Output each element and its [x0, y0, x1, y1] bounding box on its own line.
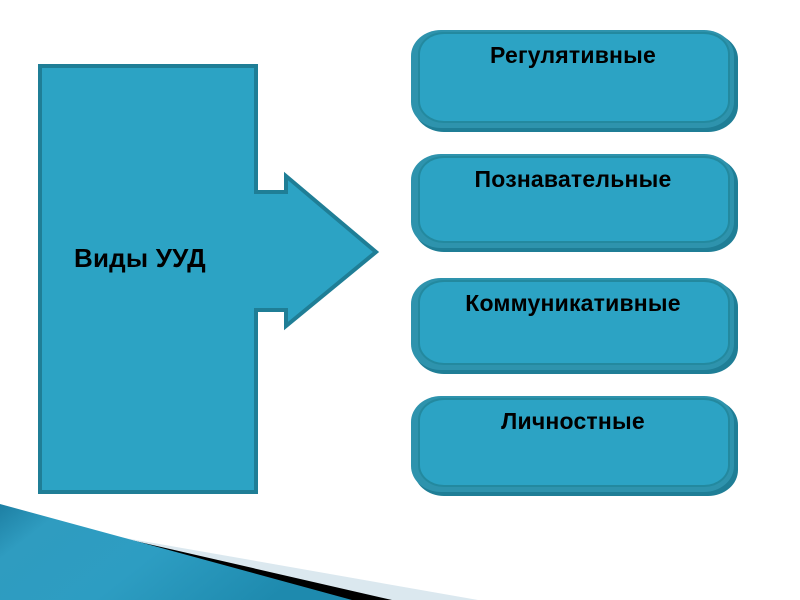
source-arrow-shape: Виды УУД [38, 64, 378, 494]
node-label: Познавательные [408, 166, 738, 193]
node-box-lichnostnye[interactable]: Личностные [408, 394, 738, 496]
source-arrow-label: Виды УУД [74, 244, 304, 273]
pale-band [0, 516, 478, 600]
blue-band [0, 504, 352, 600]
black-band [0, 510, 392, 600]
node-box-poznavatelnye[interactable]: Познавательные [408, 152, 738, 252]
node-box-kommunikativnye[interactable]: Коммуникативные [408, 276, 738, 374]
bottom-left-decoration [0, 490, 800, 600]
decoration-svg [0, 490, 800, 600]
slide-canvas: Виды УУД Регулятивные Познавательные Ком… [0, 0, 800, 600]
node-label: Личностные [408, 408, 738, 435]
node-label: Коммуникативные [408, 290, 738, 317]
arrow-polygon [40, 66, 376, 492]
arrow-shape-svg [38, 64, 378, 494]
node-label: Регулятивные [408, 42, 738, 69]
node-box-regulyativnye[interactable]: Регулятивные [408, 28, 738, 132]
